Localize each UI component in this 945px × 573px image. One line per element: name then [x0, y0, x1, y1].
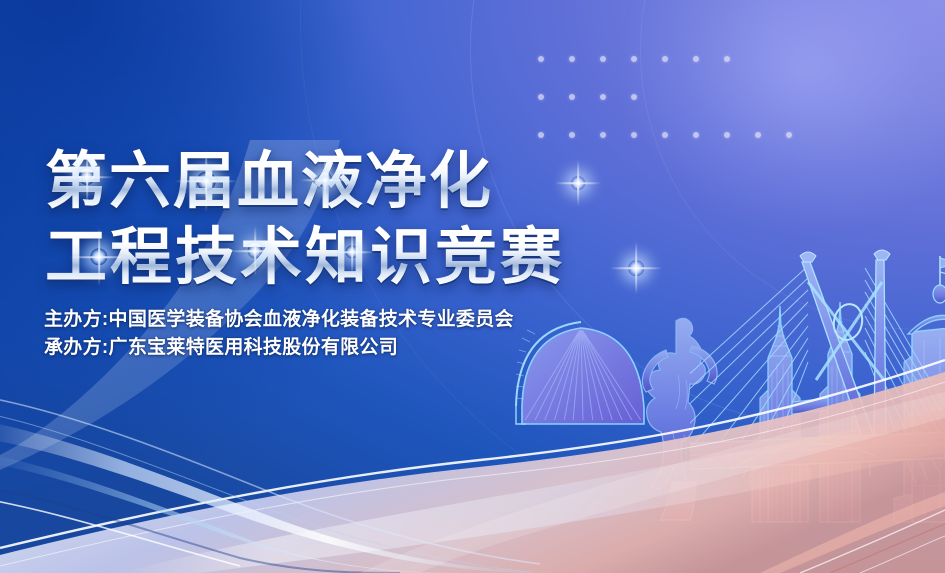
organizer-line: 主办方:中国医学装备协会血液净化装备技术专业委员会 [44, 306, 514, 334]
banner-title-line-1: 第六届血液净化 [45, 144, 565, 220]
banner-title: 第六届血液净化 工程技术知识竞赛 [45, 144, 565, 296]
co-organizer-line: 承办方:广东宝莱特医用科技股份有限公司 [44, 334, 514, 362]
banner-organizers: 主办方:中国医学装备协会血液净化装备技术专业委员会 承办方:广东宝莱特医用科技股… [44, 306, 514, 362]
banner-title-line-2: 工程技术知识竞赛 [45, 220, 565, 296]
event-banner: 第六届血液净化 工程技术知识竞赛 主办方:中国医学装备协会血液净化装备技术专业委… [0, 0, 945, 573]
